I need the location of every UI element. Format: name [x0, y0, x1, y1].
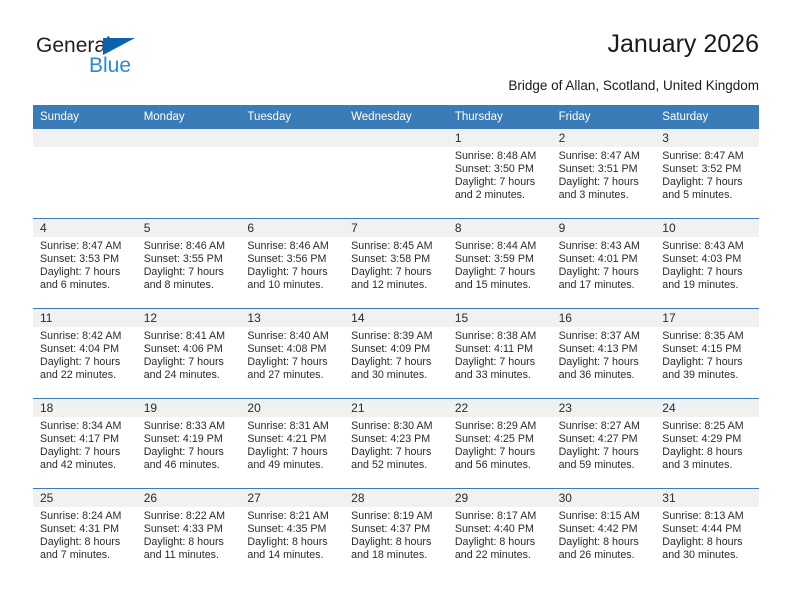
day-daylight1-text: Daylight: 7 hours — [559, 356, 648, 369]
calendar-day-cell[interactable]: 18Sunrise: 8:34 AMSunset: 4:17 PMDayligh… — [33, 399, 137, 488]
day-daylight2-text: and 27 minutes. — [247, 369, 336, 382]
day-sunrise-text: Sunrise: 8:17 AM — [455, 510, 544, 523]
day-sunset-text: Sunset: 3:51 PM — [559, 163, 648, 176]
day-daylight1-text: Daylight: 8 hours — [559, 536, 648, 549]
day-sunrise-text: Sunrise: 8:21 AM — [247, 510, 336, 523]
calendar-day-cell[interactable]: 24Sunrise: 8:25 AMSunset: 4:29 PMDayligh… — [655, 399, 759, 488]
day-sunset-text: Sunset: 3:55 PM — [144, 253, 233, 266]
day-sunrise-text: Sunrise: 8:34 AM — [40, 420, 129, 433]
day-daylight1-text: Daylight: 7 hours — [559, 266, 648, 279]
day-number: 16 — [552, 309, 656, 327]
calendar-day-cell[interactable]: 7Sunrise: 8:45 AMSunset: 3:58 PMDaylight… — [344, 219, 448, 308]
page-header: General Blue January 2026 Bridge of Alla… — [33, 30, 759, 100]
day-daylight2-text: and 52 minutes. — [351, 459, 440, 472]
day-daylight2-text: and 33 minutes. — [455, 369, 544, 382]
calendar-day-cell[interactable]: 8Sunrise: 8:44 AMSunset: 3:59 PMDaylight… — [448, 219, 552, 308]
day-number: 26 — [137, 489, 241, 507]
day-daylight2-text: and 30 minutes. — [662, 549, 751, 562]
calendar-day-cell[interactable]: 30Sunrise: 8:15 AMSunset: 4:42 PMDayligh… — [552, 489, 656, 578]
day-daylight1-text: Daylight: 7 hours — [144, 446, 233, 459]
day-sunset-text: Sunset: 4:06 PM — [144, 343, 233, 356]
calendar-day-cell[interactable]: 23Sunrise: 8:27 AMSunset: 4:27 PMDayligh… — [552, 399, 656, 488]
day-daylight1-text: Daylight: 7 hours — [351, 266, 440, 279]
calendar-day-cell[interactable]: 26Sunrise: 8:22 AMSunset: 4:33 PMDayligh… — [137, 489, 241, 578]
day-daylight1-text: Daylight: 8 hours — [40, 536, 129, 549]
day-number: 4 — [33, 219, 137, 237]
day-sunrise-text: Sunrise: 8:41 AM — [144, 330, 233, 343]
day-sunset-text: Sunset: 4:17 PM — [40, 433, 129, 446]
day-daylight1-text: Daylight: 7 hours — [662, 356, 751, 369]
day-number: 12 — [137, 309, 241, 327]
day-number: 18 — [33, 399, 137, 417]
day-number: 5 — [137, 219, 241, 237]
weekday-friday: Friday — [552, 105, 656, 129]
logo-text-blue: Blue — [89, 54, 131, 78]
day-daylight1-text: Daylight: 7 hours — [247, 446, 336, 459]
calendar-day-cell[interactable]: 15Sunrise: 8:38 AMSunset: 4:11 PMDayligh… — [448, 309, 552, 398]
day-sunrise-text: Sunrise: 8:24 AM — [40, 510, 129, 523]
day-daylight2-text: and 10 minutes. — [247, 279, 336, 292]
day-number: 29 — [448, 489, 552, 507]
calendar-day-cell[interactable]: 27Sunrise: 8:21 AMSunset: 4:35 PMDayligh… — [240, 489, 344, 578]
calendar-day-cell[interactable]: 19Sunrise: 8:33 AMSunset: 4:19 PMDayligh… — [137, 399, 241, 488]
calendar-day-cell[interactable]: 31Sunrise: 8:13 AMSunset: 4:44 PMDayligh… — [655, 489, 759, 578]
day-number: 11 — [33, 309, 137, 327]
day-daylight2-text: and 59 minutes. — [559, 459, 648, 472]
weekday-thursday: Thursday — [448, 105, 552, 129]
day-details: Sunrise: 8:40 AMSunset: 4:08 PMDaylight:… — [240, 327, 344, 382]
day-daylight2-text: and 3 minutes. — [662, 459, 751, 472]
calendar-day-cell[interactable]: 6Sunrise: 8:46 AMSunset: 3:56 PMDaylight… — [240, 219, 344, 308]
day-daylight2-text: and 15 minutes. — [455, 279, 544, 292]
day-sunset-text: Sunset: 4:03 PM — [662, 253, 751, 266]
calendar-grid: Sunday Monday Tuesday Wednesday Thursday… — [33, 105, 759, 578]
day-details: Sunrise: 8:19 AMSunset: 4:37 PMDaylight:… — [344, 507, 448, 562]
day-number: 22 — [448, 399, 552, 417]
day-daylight1-text: Daylight: 7 hours — [455, 356, 544, 369]
day-daylight1-text: Daylight: 7 hours — [144, 356, 233, 369]
day-details: Sunrise: 8:27 AMSunset: 4:27 PMDaylight:… — [552, 417, 656, 472]
day-daylight1-text: Daylight: 7 hours — [40, 446, 129, 459]
day-daylight1-text: Daylight: 7 hours — [351, 356, 440, 369]
general-blue-logo[interactable]: General Blue — [33, 34, 233, 90]
day-daylight2-text: and 46 minutes. — [144, 459, 233, 472]
day-daylight1-text: Daylight: 8 hours — [144, 536, 233, 549]
day-number: 21 — [344, 399, 448, 417]
day-daylight2-text: and 12 minutes. — [351, 279, 440, 292]
day-sunrise-text: Sunrise: 8:46 AM — [144, 240, 233, 253]
calendar-day-cell[interactable]: 13Sunrise: 8:40 AMSunset: 4:08 PMDayligh… — [240, 309, 344, 398]
day-number: 8 — [448, 219, 552, 237]
calendar-day-cell-empty — [33, 129, 137, 218]
day-details: Sunrise: 8:47 AMSunset: 3:51 PMDaylight:… — [552, 147, 656, 202]
day-daylight1-text: Daylight: 8 hours — [455, 536, 544, 549]
day-details — [137, 147, 241, 150]
day-daylight2-text: and 7 minutes. — [40, 549, 129, 562]
day-details: Sunrise: 8:15 AMSunset: 4:42 PMDaylight:… — [552, 507, 656, 562]
day-details: Sunrise: 8:37 AMSunset: 4:13 PMDaylight:… — [552, 327, 656, 382]
day-details: Sunrise: 8:43 AMSunset: 4:03 PMDaylight:… — [655, 237, 759, 292]
day-sunrise-text: Sunrise: 8:27 AM — [559, 420, 648, 433]
calendar-day-cell[interactable]: 10Sunrise: 8:43 AMSunset: 4:03 PMDayligh… — [655, 219, 759, 308]
day-daylight1-text: Daylight: 7 hours — [40, 356, 129, 369]
day-number: 28 — [344, 489, 448, 507]
day-details: Sunrise: 8:24 AMSunset: 4:31 PMDaylight:… — [33, 507, 137, 562]
day-number: 13 — [240, 309, 344, 327]
day-daylight2-text: and 30 minutes. — [351, 369, 440, 382]
day-number — [344, 129, 448, 147]
calendar-day-cell-empty — [344, 129, 448, 218]
day-daylight1-text: Daylight: 8 hours — [247, 536, 336, 549]
calendar-week-row: 1Sunrise: 8:48 AMSunset: 3:50 PMDaylight… — [33, 129, 759, 218]
day-sunset-text: Sunset: 3:59 PM — [455, 253, 544, 266]
day-details — [240, 147, 344, 150]
calendar-day-cell[interactable]: 21Sunrise: 8:30 AMSunset: 4:23 PMDayligh… — [344, 399, 448, 488]
day-sunset-text: Sunset: 4:21 PM — [247, 433, 336, 446]
day-daylight2-text: and 11 minutes. — [144, 549, 233, 562]
day-details: Sunrise: 8:13 AMSunset: 4:44 PMDaylight:… — [655, 507, 759, 562]
day-sunset-text: Sunset: 4:33 PM — [144, 523, 233, 536]
calendar-day-cell[interactable]: 4Sunrise: 8:47 AMSunset: 3:53 PMDaylight… — [33, 219, 137, 308]
calendar-page: General Blue January 2026 Bridge of Alla… — [0, 0, 792, 612]
day-number: 14 — [344, 309, 448, 327]
weekday-wednesday: Wednesday — [344, 105, 448, 129]
day-details: Sunrise: 8:25 AMSunset: 4:29 PMDaylight:… — [655, 417, 759, 472]
day-daylight1-text: Daylight: 7 hours — [247, 356, 336, 369]
day-details: Sunrise: 8:47 AMSunset: 3:53 PMDaylight:… — [33, 237, 137, 292]
weekday-monday: Monday — [137, 105, 241, 129]
day-daylight1-text: Daylight: 7 hours — [351, 446, 440, 459]
day-daylight1-text: Daylight: 8 hours — [662, 446, 751, 459]
day-number: 30 — [552, 489, 656, 507]
day-details: Sunrise: 8:42 AMSunset: 4:04 PMDaylight:… — [33, 327, 137, 382]
day-sunset-text: Sunset: 4:25 PM — [455, 433, 544, 446]
day-sunrise-text: Sunrise: 8:25 AM — [662, 420, 751, 433]
day-number: 27 — [240, 489, 344, 507]
day-daylight2-text: and 39 minutes. — [662, 369, 751, 382]
calendar-day-cell[interactable]: 25Sunrise: 8:24 AMSunset: 4:31 PMDayligh… — [33, 489, 137, 578]
day-number: 9 — [552, 219, 656, 237]
day-sunset-text: Sunset: 4:13 PM — [559, 343, 648, 356]
day-details: Sunrise: 8:47 AMSunset: 3:52 PMDaylight:… — [655, 147, 759, 202]
day-daylight2-text: and 6 minutes. — [40, 279, 129, 292]
day-number: 23 — [552, 399, 656, 417]
day-details: Sunrise: 8:46 AMSunset: 3:56 PMDaylight:… — [240, 237, 344, 292]
day-number: 31 — [655, 489, 759, 507]
day-daylight2-text: and 8 minutes. — [144, 279, 233, 292]
day-details: Sunrise: 8:44 AMSunset: 3:59 PMDaylight:… — [448, 237, 552, 292]
day-daylight2-text: and 42 minutes. — [40, 459, 129, 472]
calendar-day-cell-empty — [240, 129, 344, 218]
day-sunset-text: Sunset: 4:31 PM — [40, 523, 129, 536]
day-sunset-text: Sunset: 3:50 PM — [455, 163, 544, 176]
day-sunset-text: Sunset: 3:53 PM — [40, 253, 129, 266]
weekday-header-row: Sunday Monday Tuesday Wednesday Thursday… — [33, 105, 759, 129]
day-sunset-text: Sunset: 4:09 PM — [351, 343, 440, 356]
day-details: Sunrise: 8:43 AMSunset: 4:01 PMDaylight:… — [552, 237, 656, 292]
day-daylight2-text: and 49 minutes. — [247, 459, 336, 472]
day-daylight1-text: Daylight: 7 hours — [559, 446, 648, 459]
calendar-day-cell[interactable]: 5Sunrise: 8:46 AMSunset: 3:55 PMDaylight… — [137, 219, 241, 308]
day-sunrise-text: Sunrise: 8:13 AM — [662, 510, 751, 523]
day-daylight2-text: and 5 minutes. — [662, 189, 751, 202]
day-daylight1-text: Daylight: 7 hours — [247, 266, 336, 279]
day-number: 25 — [33, 489, 137, 507]
day-details: Sunrise: 8:34 AMSunset: 4:17 PMDaylight:… — [33, 417, 137, 472]
day-sunset-text: Sunset: 4:23 PM — [351, 433, 440, 446]
calendar-day-cell[interactable]: 3Sunrise: 8:47 AMSunset: 3:52 PMDaylight… — [655, 129, 759, 218]
day-details — [344, 147, 448, 150]
day-details: Sunrise: 8:22 AMSunset: 4:33 PMDaylight:… — [137, 507, 241, 562]
day-details: Sunrise: 8:31 AMSunset: 4:21 PMDaylight:… — [240, 417, 344, 472]
day-sunset-text: Sunset: 4:15 PM — [662, 343, 751, 356]
day-sunrise-text: Sunrise: 8:40 AM — [247, 330, 336, 343]
day-sunset-text: Sunset: 4:40 PM — [455, 523, 544, 536]
day-sunrise-text: Sunrise: 8:31 AM — [247, 420, 336, 433]
day-sunset-text: Sunset: 4:37 PM — [351, 523, 440, 536]
day-sunrise-text: Sunrise: 8:46 AM — [247, 240, 336, 253]
calendar-day-cell[interactable]: 11Sunrise: 8:42 AMSunset: 4:04 PMDayligh… — [33, 309, 137, 398]
calendar-week-row: 18Sunrise: 8:34 AMSunset: 4:17 PMDayligh… — [33, 398, 759, 488]
day-sunrise-text: Sunrise: 8:47 AM — [40, 240, 129, 253]
day-sunrise-text: Sunrise: 8:19 AM — [351, 510, 440, 523]
day-details — [33, 147, 137, 150]
weekday-saturday: Saturday — [655, 105, 759, 129]
page-title: January 2026 — [607, 30, 759, 59]
day-sunset-text: Sunset: 4:11 PM — [455, 343, 544, 356]
day-sunset-text: Sunset: 4:01 PM — [559, 253, 648, 266]
day-daylight1-text: Daylight: 7 hours — [662, 176, 751, 189]
day-daylight1-text: Daylight: 7 hours — [455, 176, 544, 189]
day-details: Sunrise: 8:35 AMSunset: 4:15 PMDaylight:… — [655, 327, 759, 382]
calendar-day-cell[interactable]: 22Sunrise: 8:29 AMSunset: 4:25 PMDayligh… — [448, 399, 552, 488]
page-subtitle: Bridge of Allan, Scotland, United Kingdo… — [508, 78, 759, 93]
calendar-day-cell[interactable]: 29Sunrise: 8:17 AMSunset: 4:40 PMDayligh… — [448, 489, 552, 578]
day-number: 17 — [655, 309, 759, 327]
day-daylight2-text: and 18 minutes. — [351, 549, 440, 562]
day-number: 24 — [655, 399, 759, 417]
day-daylight2-text: and 14 minutes. — [247, 549, 336, 562]
day-sunrise-text: Sunrise: 8:33 AM — [144, 420, 233, 433]
day-daylight2-text: and 22 minutes. — [455, 549, 544, 562]
calendar-day-cell-empty — [137, 129, 241, 218]
day-sunrise-text: Sunrise: 8:43 AM — [662, 240, 751, 253]
day-details: Sunrise: 8:39 AMSunset: 4:09 PMDaylight:… — [344, 327, 448, 382]
calendar-week-row: 11Sunrise: 8:42 AMSunset: 4:04 PMDayligh… — [33, 308, 759, 398]
day-sunrise-text: Sunrise: 8:44 AM — [455, 240, 544, 253]
day-daylight2-text: and 17 minutes. — [559, 279, 648, 292]
calendar-day-cell[interactable]: 17Sunrise: 8:35 AMSunset: 4:15 PMDayligh… — [655, 309, 759, 398]
day-sunset-text: Sunset: 3:52 PM — [662, 163, 751, 176]
day-sunrise-text: Sunrise: 8:30 AM — [351, 420, 440, 433]
day-number — [33, 129, 137, 147]
day-sunrise-text: Sunrise: 8:39 AM — [351, 330, 440, 343]
day-details: Sunrise: 8:48 AMSunset: 3:50 PMDaylight:… — [448, 147, 552, 202]
logo-triangle-icon — [103, 38, 135, 55]
day-sunset-text: Sunset: 4:44 PM — [662, 523, 751, 536]
day-details: Sunrise: 8:46 AMSunset: 3:55 PMDaylight:… — [137, 237, 241, 292]
day-daylight2-text: and 19 minutes. — [662, 279, 751, 292]
calendar-week-row: 25Sunrise: 8:24 AMSunset: 4:31 PMDayligh… — [33, 488, 759, 578]
day-number: 2 — [552, 129, 656, 147]
day-details: Sunrise: 8:41 AMSunset: 4:06 PMDaylight:… — [137, 327, 241, 382]
day-daylight1-text: Daylight: 7 hours — [144, 266, 233, 279]
day-details: Sunrise: 8:17 AMSunset: 4:40 PMDaylight:… — [448, 507, 552, 562]
day-details: Sunrise: 8:33 AMSunset: 4:19 PMDaylight:… — [137, 417, 241, 472]
day-number: 1 — [448, 129, 552, 147]
day-details: Sunrise: 8:21 AMSunset: 4:35 PMDaylight:… — [240, 507, 344, 562]
day-daylight2-text: and 24 minutes. — [144, 369, 233, 382]
day-sunrise-text: Sunrise: 8:29 AM — [455, 420, 544, 433]
day-number: 7 — [344, 219, 448, 237]
day-sunset-text: Sunset: 3:58 PM — [351, 253, 440, 266]
day-details: Sunrise: 8:29 AMSunset: 4:25 PMDaylight:… — [448, 417, 552, 472]
day-details: Sunrise: 8:45 AMSunset: 3:58 PMDaylight:… — [344, 237, 448, 292]
day-number: 6 — [240, 219, 344, 237]
day-daylight2-text: and 2 minutes. — [455, 189, 544, 202]
day-sunset-text: Sunset: 3:56 PM — [247, 253, 336, 266]
day-sunrise-text: Sunrise: 8:45 AM — [351, 240, 440, 253]
day-daylight1-text: Daylight: 8 hours — [662, 536, 751, 549]
day-sunset-text: Sunset: 4:27 PM — [559, 433, 648, 446]
calendar-day-cell[interactable]: 16Sunrise: 8:37 AMSunset: 4:13 PMDayligh… — [552, 309, 656, 398]
day-daylight1-text: Daylight: 8 hours — [351, 536, 440, 549]
day-sunrise-text: Sunrise: 8:47 AM — [662, 150, 751, 163]
day-sunset-text: Sunset: 4:29 PM — [662, 433, 751, 446]
day-number: 20 — [240, 399, 344, 417]
day-sunset-text: Sunset: 4:08 PM — [247, 343, 336, 356]
day-daylight1-text: Daylight: 7 hours — [40, 266, 129, 279]
day-number: 3 — [655, 129, 759, 147]
day-number: 19 — [137, 399, 241, 417]
day-daylight1-text: Daylight: 7 hours — [662, 266, 751, 279]
day-daylight2-text: and 56 minutes. — [455, 459, 544, 472]
day-daylight1-text: Daylight: 7 hours — [559, 176, 648, 189]
day-number: 15 — [448, 309, 552, 327]
calendar-day-cell[interactable]: 14Sunrise: 8:39 AMSunset: 4:09 PMDayligh… — [344, 309, 448, 398]
calendar-day-cell[interactable]: 9Sunrise: 8:43 AMSunset: 4:01 PMDaylight… — [552, 219, 656, 308]
day-sunset-text: Sunset: 4:42 PM — [559, 523, 648, 536]
day-number — [240, 129, 344, 147]
day-sunrise-text: Sunrise: 8:42 AM — [40, 330, 129, 343]
day-sunset-text: Sunset: 4:19 PM — [144, 433, 233, 446]
weekday-sunday: Sunday — [33, 105, 137, 129]
calendar-day-cell[interactable]: 2Sunrise: 8:47 AMSunset: 3:51 PMDaylight… — [552, 129, 656, 218]
day-sunrise-text: Sunrise: 8:22 AM — [144, 510, 233, 523]
day-daylight2-text: and 36 minutes. — [559, 369, 648, 382]
day-daylight2-text: and 22 minutes. — [40, 369, 129, 382]
day-sunrise-text: Sunrise: 8:37 AM — [559, 330, 648, 343]
calendar-day-cell[interactable]: 1Sunrise: 8:48 AMSunset: 3:50 PMDaylight… — [448, 129, 552, 218]
day-sunset-text: Sunset: 4:35 PM — [247, 523, 336, 536]
weekday-tuesday: Tuesday — [240, 105, 344, 129]
calendar-day-cell[interactable]: 28Sunrise: 8:19 AMSunset: 4:37 PMDayligh… — [344, 489, 448, 578]
day-sunrise-text: Sunrise: 8:38 AM — [455, 330, 544, 343]
day-daylight1-text: Daylight: 7 hours — [455, 446, 544, 459]
day-sunrise-text: Sunrise: 8:48 AM — [455, 150, 544, 163]
day-sunrise-text: Sunrise: 8:43 AM — [559, 240, 648, 253]
day-sunrise-text: Sunrise: 8:47 AM — [559, 150, 648, 163]
day-details: Sunrise: 8:30 AMSunset: 4:23 PMDaylight:… — [344, 417, 448, 472]
day-sunrise-text: Sunrise: 8:35 AM — [662, 330, 751, 343]
day-sunset-text: Sunset: 4:04 PM — [40, 343, 129, 356]
day-number — [137, 129, 241, 147]
calendar-day-cell[interactable]: 20Sunrise: 8:31 AMSunset: 4:21 PMDayligh… — [240, 399, 344, 488]
day-number: 10 — [655, 219, 759, 237]
day-details: Sunrise: 8:38 AMSunset: 4:11 PMDaylight:… — [448, 327, 552, 382]
day-daylight1-text: Daylight: 7 hours — [455, 266, 544, 279]
day-daylight2-text: and 26 minutes. — [559, 549, 648, 562]
calendar-week-row: 4Sunrise: 8:47 AMSunset: 3:53 PMDaylight… — [33, 218, 759, 308]
calendar-weeks: 1Sunrise: 8:48 AMSunset: 3:50 PMDaylight… — [33, 129, 759, 578]
day-daylight2-text: and 3 minutes. — [559, 189, 648, 202]
calendar-day-cell[interactable]: 12Sunrise: 8:41 AMSunset: 4:06 PMDayligh… — [137, 309, 241, 398]
day-sunrise-text: Sunrise: 8:15 AM — [559, 510, 648, 523]
